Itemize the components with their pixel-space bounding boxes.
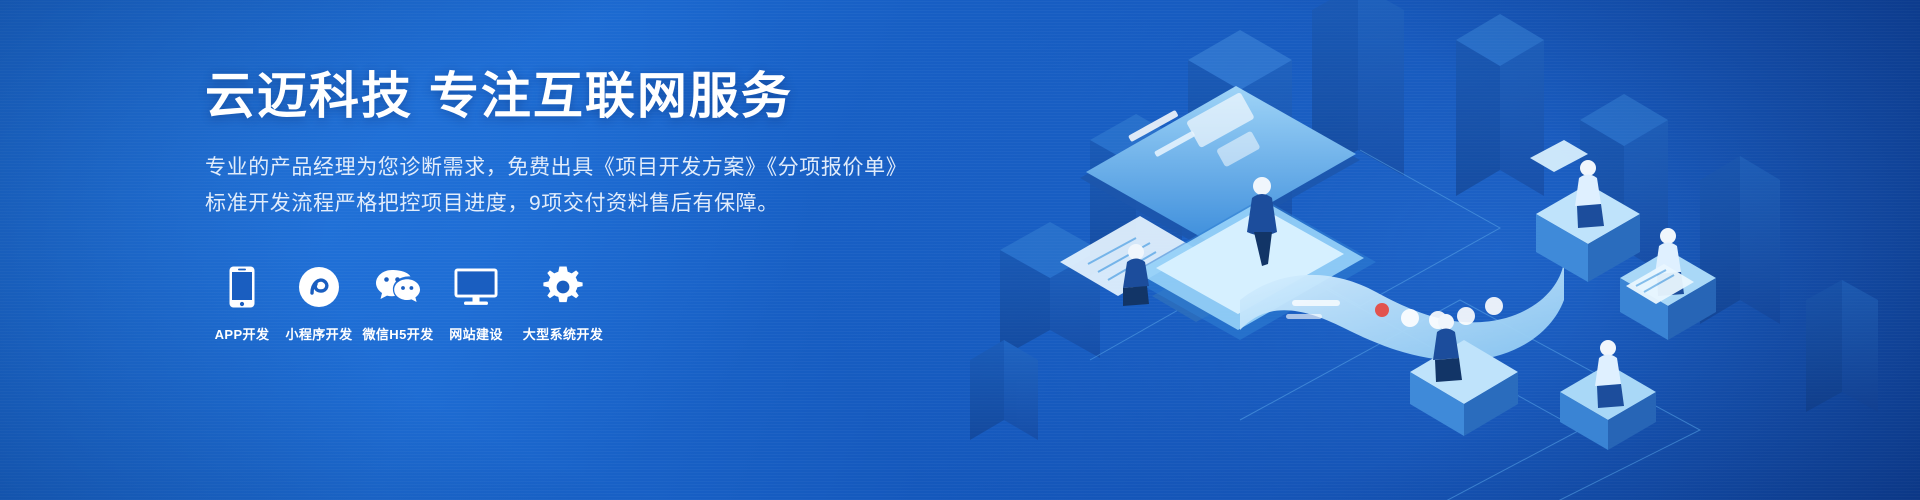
gear-icon [515, 264, 611, 310]
service-label-mini-program: 小程序开发 [281, 324, 357, 343]
service-item-mini-program[interactable]: 小程序开发 [281, 264, 357, 343]
service-list: APP开发 小程序开发 [205, 264, 965, 343]
service-item-large-system[interactable]: 大型系统开发 [515, 264, 611, 343]
monitor-icon [439, 264, 513, 310]
pedestal-illustration [1410, 184, 1716, 450]
service-label-large-system: 大型系统开发 [515, 324, 611, 343]
mini-program-icon [281, 264, 357, 310]
wechat-icon [359, 264, 437, 310]
banner-content: 云迈科技 专注互联网服务 专业的产品经理为您诊断需求，免费出具《项目开发方案》《… [205, 68, 965, 343]
service-label-wechat-h5: 微信H5开发 [359, 324, 437, 343]
service-item-wechat-h5[interactable]: 微信H5开发 [359, 264, 437, 343]
service-item-app[interactable]: APP开发 [205, 264, 279, 343]
hero-banner: 云迈科技 专注互联网服务 专业的产品经理为您诊断需求，免费出具《项目开发方案》《… [0, 0, 1920, 500]
service-label-website: 网站建设 [439, 324, 513, 343]
subtitle-line-2: 标准开发流程严格把控项目进度，9项交付资料售后有保障。 [205, 186, 965, 222]
service-item-website[interactable]: 网站建设 [439, 264, 513, 343]
page-title: 云迈科技 专注互联网服务 [205, 68, 965, 124]
subtitle-line-1: 专业的产品经理为您诊断需求，免费出具《项目开发方案》《分项报价单》 [205, 150, 965, 186]
isometric-illustration [940, 0, 1920, 500]
service-label-app: APP开发 [205, 324, 279, 343]
mobile-phone-icon [205, 264, 279, 310]
